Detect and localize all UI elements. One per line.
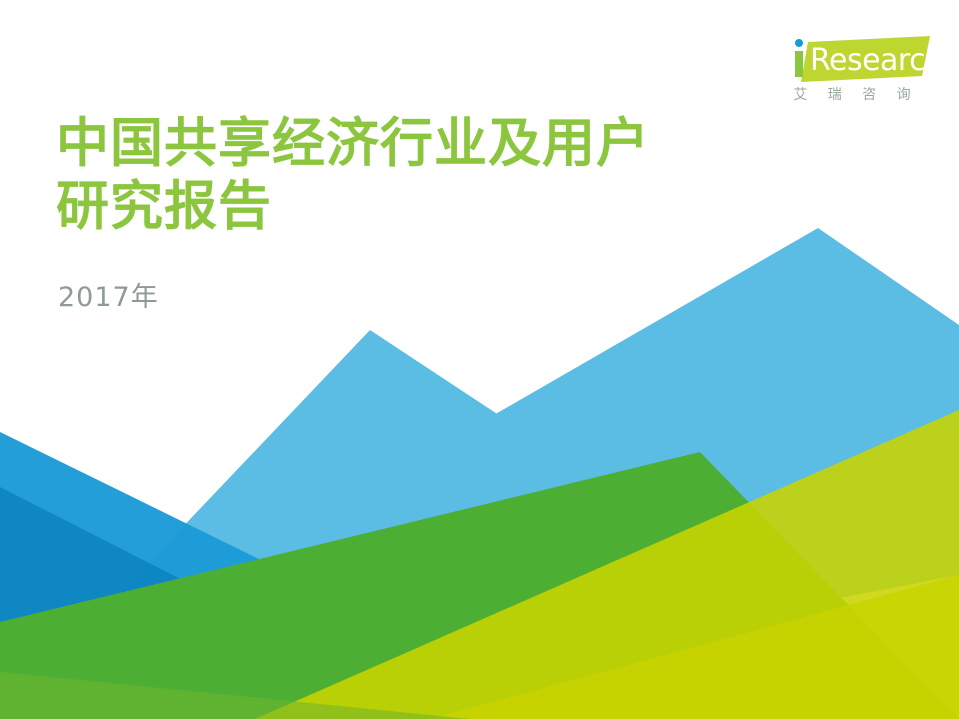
- logo-i-dot-icon: [795, 39, 803, 47]
- logo-wordmark: Research: [810, 46, 944, 76]
- page-title: 中国共享经济行业及用户 研究报告: [56, 112, 736, 238]
- title-block: 中国共享经济行业及用户 研究报告: [56, 112, 736, 238]
- logo-chinese-name: 艾 瑞 咨 询: [776, 86, 936, 104]
- report-cover-slide: 中国共享经济行业及用户 研究报告 2017年 Research 艾 瑞 咨 询: [0, 0, 959, 719]
- report-year: 2017年: [58, 281, 159, 315]
- iresearch-logo: Research 艾 瑞 咨 询: [770, 26, 935, 118]
- logo-i-stem-icon: [795, 51, 803, 77]
- logo-mark: Research: [770, 26, 935, 84]
